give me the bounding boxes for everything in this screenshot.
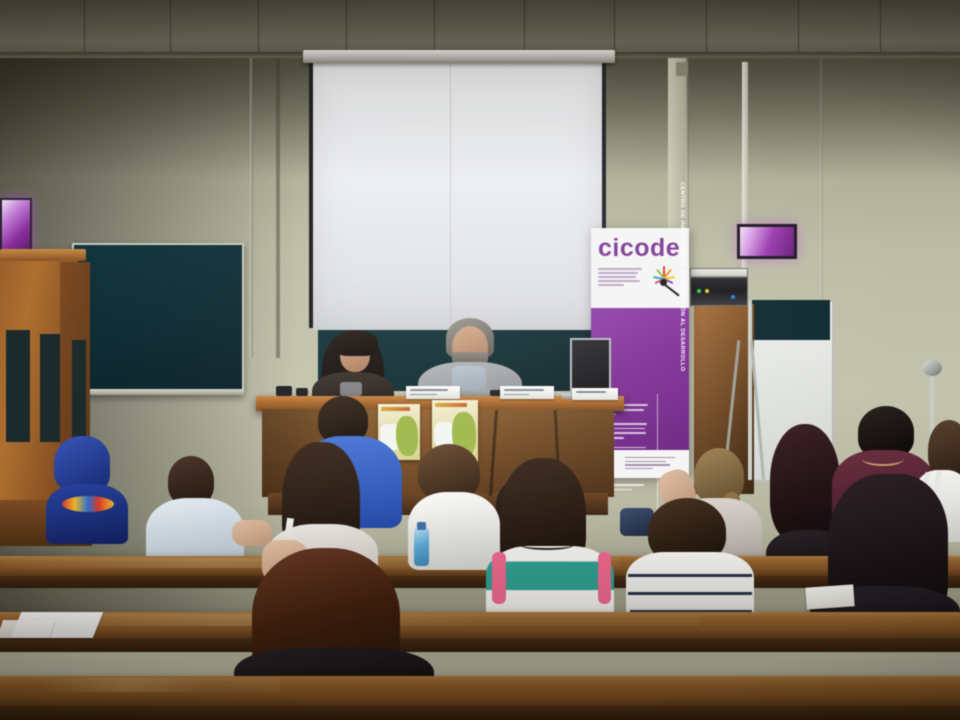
lanyard-badge	[340, 382, 362, 396]
screen-roller-bar	[303, 50, 615, 63]
lectern-top	[0, 249, 86, 261]
lecture-hall-photo: cicode CENTRO DE INICIATIVAS DE COOPERAC…	[0, 0, 960, 720]
microphone-icon	[922, 360, 942, 376]
wall-sensor-icon	[676, 62, 688, 76]
arm	[232, 520, 272, 546]
name-placard	[406, 386, 460, 399]
desk-row-front-face	[0, 706, 960, 720]
chalkboard-left	[72, 243, 244, 395]
paper-sheet	[0, 620, 55, 638]
banner-footer-lines	[625, 457, 675, 472]
polo-stripe	[628, 574, 752, 577]
projection-screen	[313, 60, 602, 330]
lectern-panel	[40, 334, 60, 442]
tank-stripe-pink	[492, 552, 506, 604]
screen-fold	[450, 60, 451, 328]
lectern-panel	[6, 330, 30, 442]
desk-object	[276, 386, 292, 396]
banner-vertical-title: CENTRO DE INICIATIVAS DE COOPERACIÓN AL …	[671, 182, 685, 314]
name-placard	[572, 388, 618, 400]
uv-lamp-left-icon	[0, 198, 32, 254]
desk-row-face	[0, 638, 960, 652]
necklace	[862, 452, 904, 466]
uv-lamp-right-icon	[737, 224, 797, 259]
desk-gloss	[40, 678, 280, 692]
whiteboard-top-panel	[752, 300, 830, 340]
torso	[46, 484, 128, 544]
necklace	[520, 540, 574, 550]
tank-stripe-pink	[598, 552, 611, 604]
desk-object	[296, 388, 308, 396]
beaded-collar	[62, 496, 114, 512]
notebook	[805, 584, 854, 609]
polo-stripe	[628, 592, 752, 595]
name-placard	[500, 386, 554, 399]
av-stand-pole	[748, 300, 752, 480]
bottle-cap	[417, 522, 426, 530]
chalkboard-ledge	[70, 389, 244, 395]
wall-seam	[250, 58, 253, 358]
av-rack-unit	[690, 268, 748, 306]
banner-subtitle-lines	[598, 268, 642, 288]
wall-seam	[276, 58, 280, 358]
lectern-panel	[72, 340, 86, 440]
water-bottle	[414, 528, 429, 566]
